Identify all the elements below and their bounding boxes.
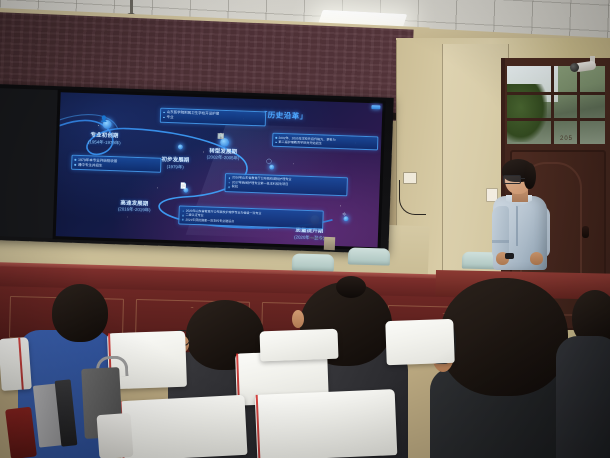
callout-bottom-list: 2020年山东省教育厅公布我校护理学专业为省级一流专业 二级认证专业 2021年… <box>182 209 320 227</box>
mullion-h1 <box>507 92 605 95</box>
presenter-glasses-icon <box>503 175 521 184</box>
audience-person-3-ear <box>292 310 304 328</box>
presenter-hair-back <box>524 163 536 189</box>
people-icon: 👤 <box>100 115 108 122</box>
callout-left-list: 1979年本专业开始招收普 通中专生并招生 <box>74 157 158 170</box>
door-number: 205 <box>560 136 573 142</box>
display-bezel: 「历史沿革」 <box>53 89 386 250</box>
mullion-v1 <box>551 66 554 144</box>
stage-1-date: (1954年-1979年) <box>88 139 121 146</box>
stage-4-date: (2016年-2019年) <box>118 207 151 214</box>
auditorium-seat-6[interactable] <box>385 319 454 365</box>
mullion-h2 <box>507 118 605 121</box>
audience-person-4-head <box>440 278 568 396</box>
stage-label-3: 转型发展期 (2002年-2005年) <box>207 146 240 162</box>
auditorium-seat-7[interactable] <box>0 337 32 391</box>
stage-chair-5[interactable] <box>348 247 390 265</box>
display-wall-bracket <box>324 237 335 250</box>
door-glass-panes <box>507 66 605 144</box>
auditorium-seat-5[interactable] <box>255 389 398 458</box>
document-icon: 📄 <box>180 183 188 190</box>
quality-icon: ◯ <box>266 159 272 165</box>
node-marker-extra <box>269 164 274 169</box>
stage-2-name: 初步发展期 <box>161 155 189 164</box>
door-knob[interactable] <box>582 226 589 238</box>
audience-person-5-shoulders <box>556 336 610 458</box>
hanging-cable <box>399 180 426 215</box>
mullion-v2 <box>577 66 580 144</box>
stage-label-1: 专业初创期 (1954年-1979年) <box>88 131 121 147</box>
callout-right-lower-list: 2016年山东省教育厅公布我校首批护理专业 2017年我省护理专业第一批本科招生… <box>228 176 344 193</box>
stage-label-2: 初步发展期 (1979年) <box>161 155 189 170</box>
auditorium-seat-4[interactable] <box>119 395 248 458</box>
audience-person-1-head <box>52 284 108 342</box>
compass-icon: ✧ <box>341 212 346 219</box>
presenter-sleeve-hem <box>492 240 509 243</box>
stage-2-date: (1979年) <box>161 163 189 170</box>
stage-3-date: (2002年-2005年) <box>207 155 240 162</box>
seat-7-piping <box>18 338 24 390</box>
white-tote-bag[interactable] <box>97 413 134 458</box>
callout-right-upper-list: 2002年、2005年学校先后升格为、更名为 第二届护理教育学院并开始招生 <box>275 135 375 147</box>
callout-top-list: 山东医学院附属卫生学校开设护理 专业 <box>163 110 263 124</box>
presentation-clicker[interactable] <box>505 253 514 259</box>
camera-lens-icon <box>570 63 579 72</box>
display-power-led <box>371 105 380 109</box>
building-icon: 🏢 <box>217 132 225 139</box>
presenter-shirt-placket <box>516 206 518 246</box>
lecture-hall-scene: 205 「历史沿革」 <box>0 0 610 458</box>
auditorium-seat-3[interactable] <box>260 329 339 362</box>
seat-5-piping <box>256 395 261 458</box>
stage-chair-4[interactable] <box>292 253 334 271</box>
presenter-right-hand <box>530 252 543 265</box>
blackboard-left-panel <box>0 88 58 238</box>
wall-display-board[interactable]: 「历史沿革」 <box>0 84 394 254</box>
presentation-screen[interactable]: 「历史沿革」 <box>56 92 383 247</box>
audience-person-3-hair-bun <box>336 276 366 298</box>
stage-label-4: 高速发展期 (2016年-2019年) <box>118 198 151 214</box>
node-stage-2 <box>178 144 183 149</box>
